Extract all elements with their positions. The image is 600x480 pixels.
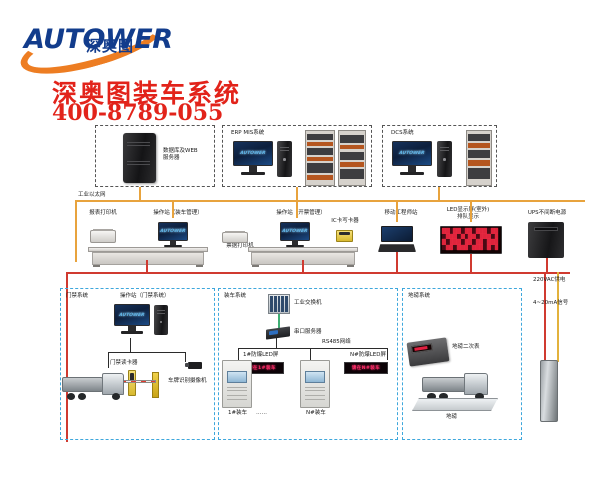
access-branch-bus [108, 352, 186, 353]
erp-tower-pc [277, 141, 292, 177]
ic-card-writer [336, 230, 353, 242]
database-web-server [123, 133, 156, 183]
drop-line-loading-ws [172, 200, 174, 218]
invoice-printer [222, 232, 248, 243]
access-control-pc [154, 305, 168, 335]
drop-line-erp [296, 187, 298, 201]
telephone-number: 400-8789-055 [52, 100, 223, 126]
power-drop-1 [146, 260, 148, 274]
dcs-control-rack [466, 130, 492, 186]
screen-brand-text-5: AUTOWER [119, 313, 145, 318]
weighbridge-zone-label: 地磅系统 [408, 293, 430, 300]
access-zone-label: 门禁系统 [66, 293, 88, 300]
screen-brand-text-2: AUTOWER [399, 151, 425, 156]
plate-recognition-camera [188, 362, 202, 369]
logo-chinese-name: 深奥图 [86, 35, 134, 56]
bayN-led-label: N#防爆LED屏 [350, 352, 386, 359]
loading-zone-label: 装车系统 [224, 293, 246, 300]
dcs-tower-pc [437, 141, 452, 177]
bayN-led-text: 请在N#装车 [352, 365, 381, 371]
power-drop-4 [470, 254, 472, 274]
power-drop-ups [546, 258, 548, 274]
power-bus-red [66, 272, 570, 274]
industrial-ethernet-bus [75, 200, 585, 202]
erp-control-rack-2 [338, 130, 366, 186]
diagram-canvas: AUTOWER 深奥图 深奥图装车系统 400-8789-055 数据库及WEB… [0, 0, 600, 480]
weighbridge-label: 地磅 [446, 414, 457, 421]
report-printer-label: 报表打印机 [77, 210, 129, 217]
erp-control-rack [305, 130, 335, 186]
ic-card-writer-label: IC卡写卡器 [323, 218, 367, 225]
power-220vac-label: 220VAC供电 [533, 277, 565, 284]
access-control-monitor: AUTOWER [114, 304, 150, 334]
card-reader-label: 门禁读卡器 [110, 360, 138, 367]
industrial-switch-label: 工业交换机 [294, 300, 322, 307]
barrier-gate-post [152, 372, 159, 398]
rs485-drop-1 [238, 348, 239, 360]
operator-desk-left [88, 235, 208, 267]
access-branch-right [185, 352, 186, 362]
power-riser-right [544, 272, 546, 362]
bay1-led-text: 请在1#装车 [248, 365, 276, 371]
rs485-drop-mid [310, 348, 311, 360]
dcs-label: DCS系统 [391, 130, 414, 137]
power-drop-3 [396, 252, 398, 274]
bayN-explosionproof-led: 请在N#装车 [344, 362, 388, 374]
bay-ellipsis: …… [256, 410, 267, 417]
bayN-label: N#装车 [306, 410, 326, 417]
ethernet-label: 工业以太网 [78, 192, 106, 199]
bayN-loading-cabinet [300, 360, 330, 408]
mobile-engineer-laptop [378, 226, 416, 252]
erp-monitor: AUTOWER [233, 141, 273, 175]
ups-label: UPS不间断电源 [514, 210, 580, 217]
drop-line-mobile-ws [396, 200, 398, 222]
outdoor-led-display [440, 226, 502, 254]
plate-camera-label: 车牌识别摄像机 [168, 378, 207, 385]
ups-power-supply [528, 222, 564, 258]
signal-4-20ma-label: 4~20mA信号 [533, 300, 568, 307]
bay1-loading-cabinet [222, 360, 252, 408]
access-workstation-label: 操作站（门禁系统） [120, 293, 170, 300]
dcs-monitor: AUTOWER [392, 141, 432, 175]
drop-line-server [139, 187, 141, 201]
mobile-engineer-station-label: 移动工程师站 [372, 210, 430, 217]
loading-workstation-label: 操作站（装车管理） [140, 210, 216, 217]
rs485-bus [238, 348, 388, 349]
access-ws-down-line [130, 338, 131, 352]
screen-brand-text-4: AUTOWER [282, 229, 308, 234]
access-branch-left [108, 352, 109, 368]
outdoor-led-label: LED显示屏(室外) 排队显示 [432, 207, 504, 221]
serial-down-line [276, 338, 277, 348]
weighbridge-truck [422, 370, 488, 400]
power-drop-2 [302, 260, 304, 274]
field-equipment-cabinet [540, 360, 558, 422]
erp-label: ERP MIS系统 [231, 130, 264, 137]
screen-brand-text: AUTOWER [240, 151, 266, 156]
weighbridge-platform [412, 398, 498, 411]
bay1-label: 1#装车 [228, 410, 247, 417]
drop-line-dcs [438, 187, 440, 201]
access-truck [62, 370, 124, 400]
bay1-led-label: 1#防爆LED屏 [243, 352, 278, 359]
drop-line-led [470, 200, 472, 222]
industrial-switch [268, 294, 290, 314]
screen-brand-text-3: AUTOWER [160, 229, 186, 234]
drop-line-invoice-ws [296, 200, 298, 218]
server-label: 数据库及WEB 服务器 [163, 148, 198, 162]
rs485-drop-n [387, 348, 388, 360]
signal-riser-right [557, 272, 559, 362]
rs485-label: RS485网络 [322, 339, 351, 346]
invoice-workstation-label: 操作站（开票管理） [262, 210, 340, 217]
serial-server-label: 串口服务器 [294, 329, 322, 336]
gate-card-reader [128, 370, 136, 396]
scale-indicator-label: 地磅二次表 [452, 344, 480, 351]
